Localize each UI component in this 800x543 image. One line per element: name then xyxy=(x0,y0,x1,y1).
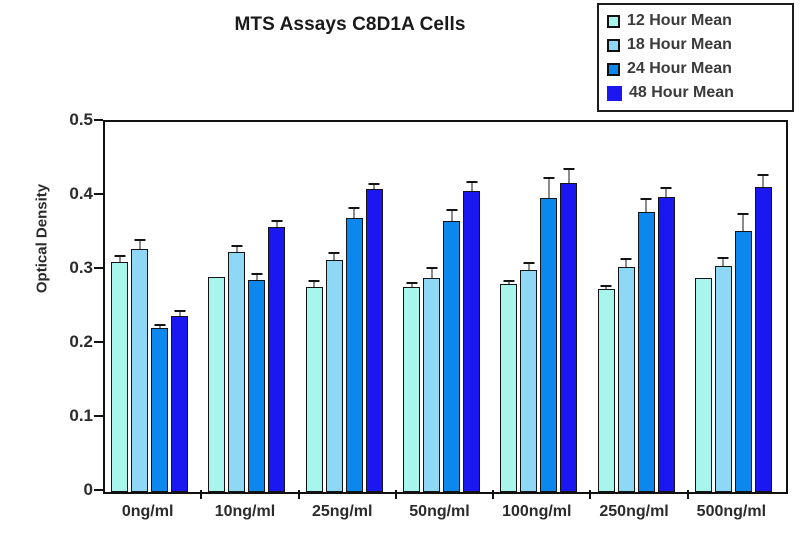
bar-group-10ng/ml xyxy=(208,122,285,492)
error-bar-line xyxy=(236,247,237,251)
y-axis-tick-mark xyxy=(94,415,103,417)
y-axis-tick-label: 0.2 xyxy=(47,332,93,352)
error-bar-line xyxy=(568,170,569,183)
error-bar-line xyxy=(471,183,472,190)
error-bar-cap xyxy=(174,310,185,312)
bar-rect xyxy=(111,262,128,492)
error-bar-line xyxy=(763,176,764,187)
x-axis-tick-label-500ng/ml: 500ng/ml xyxy=(697,503,766,521)
error-bar-line xyxy=(139,241,140,249)
plot-area xyxy=(105,122,786,492)
bar-group-50ng/ml xyxy=(403,122,480,492)
bar-18-hour-mean-100ng/ml xyxy=(520,122,537,492)
bar-rect xyxy=(715,266,732,492)
legend-swatch-icon xyxy=(607,63,620,76)
error-bar-line xyxy=(334,254,335,260)
bar-rect xyxy=(598,289,615,492)
error-bar-cap xyxy=(154,324,165,326)
x-axis-tick-label-0ng/ml: 0ng/ml xyxy=(122,503,174,521)
error-bar-cap xyxy=(271,220,282,222)
bar-12-hour-mean-50ng/ml xyxy=(403,122,420,492)
bar-rect xyxy=(463,191,480,492)
bar-rect xyxy=(695,278,712,492)
x-axis-tick-label-250ng/ml: 250ng/ml xyxy=(599,503,668,521)
error-bar-cap xyxy=(661,187,672,189)
error-bar-cap xyxy=(503,280,514,282)
y-axis-tick-mark xyxy=(94,193,103,195)
bar-rect xyxy=(658,197,675,492)
x-axis-tick-mark xyxy=(687,490,689,499)
bar-18-hour-mean-10ng/ml xyxy=(228,122,245,492)
bar-48-hour-mean-250ng/ml xyxy=(658,122,675,492)
error-bar-cap xyxy=(426,267,437,269)
bar-18-hour-mean-250ng/ml xyxy=(618,122,635,492)
x-axis-tick-label-10ng/ml: 10ng/ml xyxy=(215,503,275,521)
bar-12-hour-mean-10ng/ml xyxy=(208,122,225,492)
x-axis-tick-mark xyxy=(298,490,300,499)
error-bar-cap xyxy=(523,262,534,264)
bar-12-hour-mean-100ng/ml xyxy=(500,122,517,492)
bar-12-hour-mean-25ng/ml xyxy=(306,122,323,492)
bar-rect xyxy=(228,252,245,493)
error-bar-line xyxy=(508,282,509,284)
bar-24-hour-mean-0ng/ml xyxy=(151,122,168,492)
error-bar-line xyxy=(451,211,452,221)
error-bar-cap xyxy=(718,257,729,259)
bar-rect xyxy=(403,287,420,492)
legend-item-label: 18 Hour Mean xyxy=(627,36,732,54)
bar-rect xyxy=(560,183,577,492)
bar-rect xyxy=(423,278,440,492)
bar-rect xyxy=(638,212,655,492)
error-bar-cap xyxy=(446,209,457,211)
bar-24-hour-mean-10ng/ml xyxy=(248,122,265,492)
error-bar-line xyxy=(411,284,412,287)
legend-item-label: 48 Hour Mean xyxy=(629,84,734,102)
chart-legend: 12 Hour Mean18 Hour Mean24 Hour Mean48 H… xyxy=(597,3,794,112)
bar-rect xyxy=(268,227,285,492)
bar-rect xyxy=(618,267,635,492)
bar-24-hour-mean-250ng/ml xyxy=(638,122,655,492)
y-axis-label: Optical Density xyxy=(34,159,51,319)
legend-item-3[interactable]: 48 Hour Mean xyxy=(607,81,786,105)
y-axis-tick-label: 0.1 xyxy=(47,406,93,426)
bar-12-hour-mean-250ng/ml xyxy=(598,122,615,492)
error-bar-line xyxy=(666,189,667,198)
error-bar-cap xyxy=(641,198,652,200)
error-bar-cap xyxy=(738,213,749,215)
bar-group-250ng/ml xyxy=(598,122,675,492)
legend-item-1[interactable]: 18 Hour Mean xyxy=(607,33,786,57)
error-bar-cap xyxy=(563,168,574,170)
bar-48-hour-mean-25ng/ml xyxy=(366,122,383,492)
y-axis-tick-mark xyxy=(94,489,103,491)
bar-rect xyxy=(366,189,383,492)
bar-rect xyxy=(346,218,363,492)
legend-swatch-icon xyxy=(607,15,620,28)
bar-rect xyxy=(540,198,557,492)
x-axis-tick-mark xyxy=(492,490,494,499)
legend-item-2[interactable]: 24 Hour Mean xyxy=(607,57,786,81)
error-bar-cap xyxy=(369,183,380,185)
error-bar-cap xyxy=(231,245,242,247)
error-bar-line xyxy=(314,282,315,287)
legend-swatch-icon xyxy=(607,39,620,52)
y-axis-tick-label: 0.3 xyxy=(47,258,93,278)
error-bar-line xyxy=(606,287,607,289)
error-bar-line xyxy=(646,200,647,213)
bar-rect xyxy=(755,187,772,492)
y-axis-tick-label: 0.4 xyxy=(47,184,93,204)
bar-24-hour-mean-50ng/ml xyxy=(443,122,460,492)
bar-18-hour-mean-50ng/ml xyxy=(423,122,440,492)
bar-rect xyxy=(326,260,343,492)
bar-12-hour-mean-500ng/ml xyxy=(695,122,712,492)
bar-group-100ng/ml xyxy=(500,122,577,492)
bar-rect xyxy=(500,284,517,492)
error-bar-cap xyxy=(466,181,477,183)
bar-rect xyxy=(208,277,225,492)
error-bar-line xyxy=(626,260,627,267)
bar-48-hour-mean-0ng/ml xyxy=(171,122,188,492)
bar-24-hour-mean-100ng/ml xyxy=(540,122,557,492)
bar-rect xyxy=(171,316,188,492)
error-bar-line xyxy=(354,209,355,219)
legend-item-label: 24 Hour Mean xyxy=(627,60,732,78)
error-bar-cap xyxy=(329,252,340,254)
error-bar-line xyxy=(159,326,160,329)
plot-frame xyxy=(103,120,788,494)
error-bar-cap xyxy=(309,280,320,282)
bar-18-hour-mean-0ng/ml xyxy=(131,122,148,492)
bar-rect xyxy=(151,328,168,492)
error-bar-line xyxy=(119,257,120,261)
x-axis-tick-mark xyxy=(200,490,202,499)
bar-12-hour-mean-0ng/ml xyxy=(111,122,128,492)
bar-24-hour-mean-500ng/ml xyxy=(735,122,752,492)
error-bar-line xyxy=(276,222,277,227)
bar-group-0ng/ml xyxy=(111,122,188,492)
y-axis-tick-label: 0 xyxy=(47,480,93,500)
chart-root: MTS Assays C8D1A Cells 12 Hour Mean18 Ho… xyxy=(0,0,800,543)
error-bar-line xyxy=(528,264,529,270)
error-bar-cap xyxy=(251,273,262,275)
x-axis-tick-label-100ng/ml: 100ng/ml xyxy=(502,503,571,521)
error-bar-line xyxy=(723,259,724,266)
legend-item-label: 12 Hour Mean xyxy=(627,12,732,30)
y-axis-tick-mark xyxy=(94,119,103,121)
error-bar-line xyxy=(179,312,180,316)
bar-group-25ng/ml xyxy=(306,122,383,492)
error-bar-line xyxy=(431,269,432,278)
bar-group-500ng/ml xyxy=(695,122,772,492)
legend-item-0[interactable]: 12 Hour Mean xyxy=(607,9,786,33)
error-bar-cap xyxy=(758,174,769,176)
error-bar-cap xyxy=(543,177,554,179)
bar-18-hour-mean-500ng/ml xyxy=(715,122,732,492)
bar-18-hour-mean-25ng/ml xyxy=(326,122,343,492)
legend-swatch-icon xyxy=(607,86,622,101)
bar-rect xyxy=(443,221,460,492)
bar-rect xyxy=(306,287,323,492)
bar-rect xyxy=(248,280,265,492)
bar-rect xyxy=(735,231,752,492)
y-axis-tick-label: 0.5 xyxy=(47,110,93,130)
error-bar-cap xyxy=(114,255,125,257)
error-bar-line xyxy=(374,185,375,189)
x-axis-tick-mark xyxy=(589,490,591,499)
error-bar-cap xyxy=(349,207,360,209)
error-bar-cap xyxy=(134,239,145,241)
error-bar-cap xyxy=(601,285,612,287)
error-bar-line xyxy=(548,179,549,198)
y-axis-tick-mark xyxy=(94,267,103,269)
error-bar-cap xyxy=(621,258,632,260)
x-axis-tick-label-50ng/ml: 50ng/ml xyxy=(409,503,469,521)
x-axis-tick-label-25ng/ml: 25ng/ml xyxy=(312,503,372,521)
x-axis-tick-mark xyxy=(395,490,397,499)
y-axis-tick-mark xyxy=(94,341,103,343)
bar-rect xyxy=(520,270,537,492)
error-bar-line xyxy=(743,215,744,231)
error-bar-line xyxy=(256,275,257,280)
bar-rect xyxy=(131,249,148,492)
bar-48-hour-mean-100ng/ml xyxy=(560,122,577,492)
bar-48-hour-mean-500ng/ml xyxy=(755,122,772,492)
bar-24-hour-mean-25ng/ml xyxy=(346,122,363,492)
bar-48-hour-mean-50ng/ml xyxy=(463,122,480,492)
error-bar-cap xyxy=(406,282,417,284)
bar-48-hour-mean-10ng/ml xyxy=(268,122,285,492)
chart-title: MTS Assays C8D1A Cells xyxy=(150,14,550,36)
